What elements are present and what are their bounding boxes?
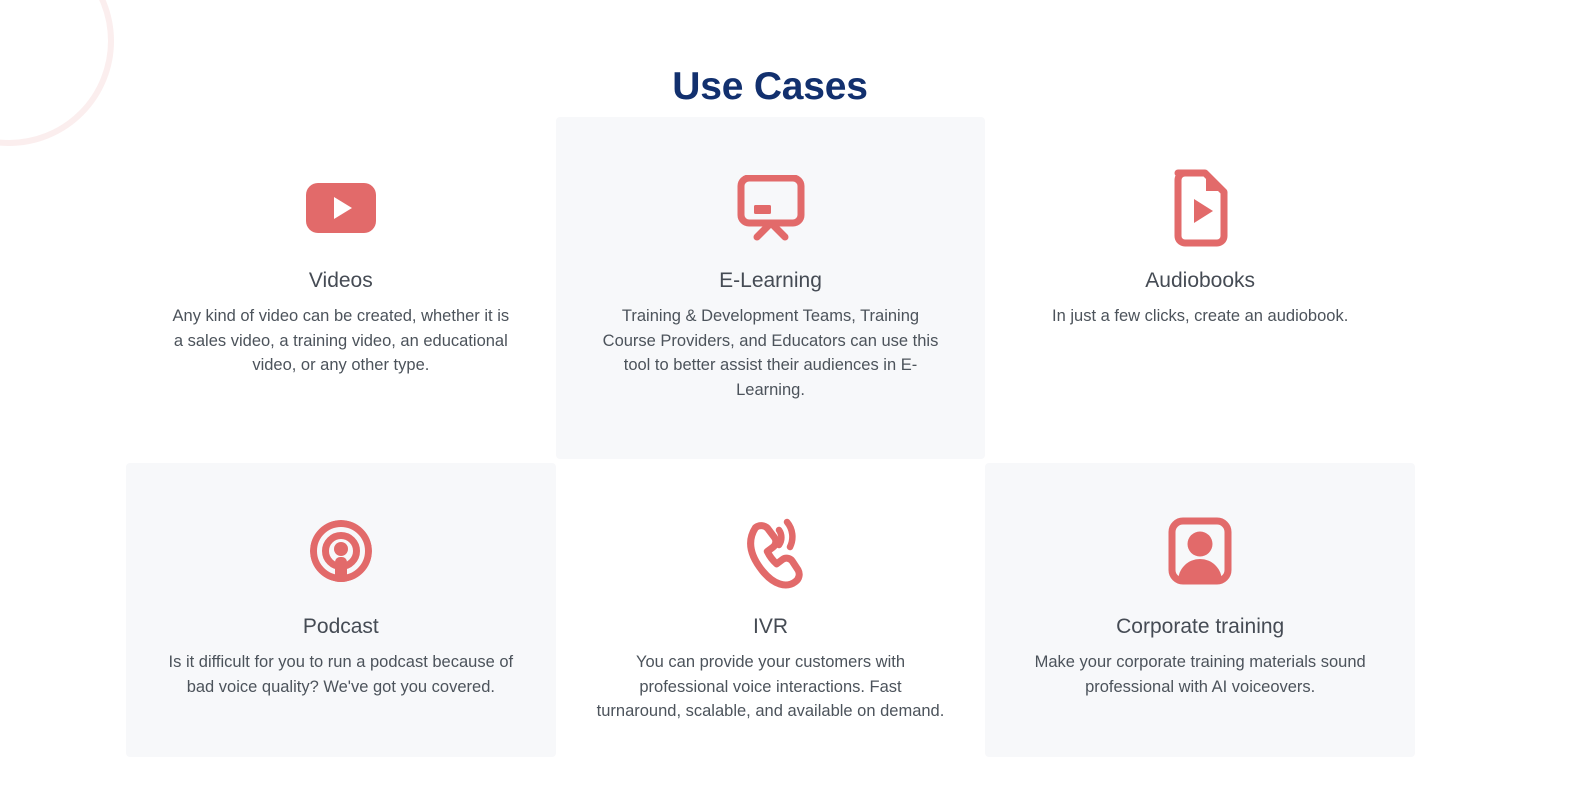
use-case-row: Videos Any kind of video can be created,… (126, 117, 1415, 459)
use-cases-section: Use Cases Videos Any kind of video can b… (0, 0, 1577, 801)
use-case-card-corporate-training[interactable]: Corporate training Make your corporate t… (985, 463, 1415, 757)
card-description: You can provide your customers with prof… (596, 650, 946, 723)
use-case-card-audiobooks[interactable]: Audiobooks In just a few clicks, create … (985, 117, 1415, 459)
use-case-row: Podcast Is it difficult for you to run a… (126, 463, 1415, 757)
use-case-card-videos[interactable]: Videos Any kind of video can be created,… (126, 117, 556, 459)
card-title: E-Learning (719, 267, 822, 294)
whiteboard-icon (736, 165, 806, 251)
card-title: IVR (753, 613, 788, 640)
use-case-grid: Videos Any kind of video can be created,… (126, 117, 1415, 757)
card-title: Audiobooks (1145, 267, 1255, 294)
card-description: Make your corporate training materials s… (1025, 650, 1375, 699)
card-description: Any kind of video can be created, whethe… (166, 304, 516, 377)
youtube-play-icon (306, 165, 376, 251)
person-frame-icon (1160, 511, 1240, 597)
card-title: Corporate training (1116, 613, 1284, 640)
card-title: Videos (309, 267, 373, 294)
phone-waves-icon (734, 511, 808, 597)
card-title: Podcast (303, 613, 379, 640)
use-case-card-podcast[interactable]: Podcast Is it difficult for you to run a… (126, 463, 556, 757)
file-play-icon (1169, 165, 1231, 251)
card-description: Training & Development Teams, Training C… (596, 304, 946, 402)
card-description: In just a few clicks, create an audioboo… (1052, 304, 1348, 328)
page-title: Use Cases (0, 66, 1540, 109)
use-case-card-ivr[interactable]: IVR You can provide your customers with … (556, 463, 986, 757)
podcast-icon (304, 511, 378, 597)
card-description: Is it difficult for you to run a podcast… (166, 650, 516, 699)
use-case-card-e-learning[interactable]: E-Learning Training & Development Teams,… (556, 117, 986, 459)
